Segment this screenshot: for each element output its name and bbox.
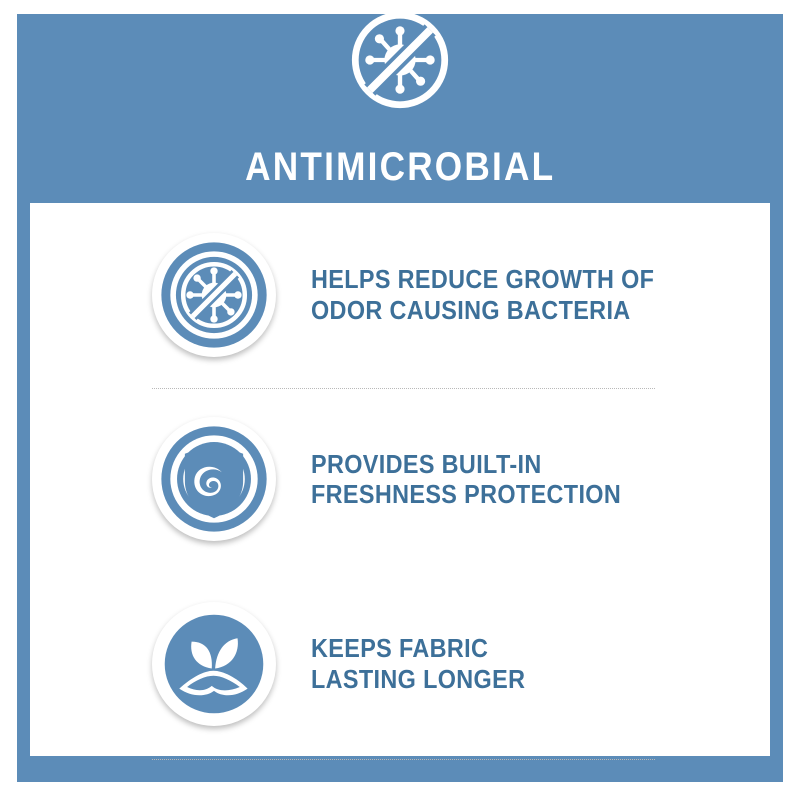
- feature-row-fabric: KEEPS FABRIC LASTING LONGER: [30, 572, 770, 756]
- page-title: ANTIMICROBIAL: [245, 147, 555, 187]
- feature-row-antibacterial: HELPS REDUCE GROWTH OF ODOR CAUSING BACT…: [30, 203, 770, 387]
- feature-label: KEEPS FABRIC LASTING LONGER: [311, 633, 525, 694]
- shield-swirl-icon: [152, 417, 276, 541]
- row-divider: [152, 759, 655, 760]
- feature-label: HELPS REDUCE GROWTH OF ODOR CAUSING BACT…: [311, 264, 654, 325]
- feature-label: PROVIDES BUILT-IN FRESHNESS PROTECTION: [311, 449, 621, 510]
- no-germ-icon: [348, 8, 452, 112]
- features-list: HELPS REDUCE GROWTH OF ODOR CAUSING BACT…: [30, 203, 770, 756]
- no-germ-circle-icon: [152, 233, 276, 357]
- leaf-fabric-icon: [152, 602, 276, 726]
- antimicrobial-infographic: ANTIMICROBIAL: [0, 0, 800, 800]
- features-card: HELPS REDUCE GROWTH OF ODOR CAUSING BACT…: [30, 203, 770, 756]
- feature-row-freshness: PROVIDES BUILT-IN FRESHNESS PROTECTION: [30, 387, 770, 571]
